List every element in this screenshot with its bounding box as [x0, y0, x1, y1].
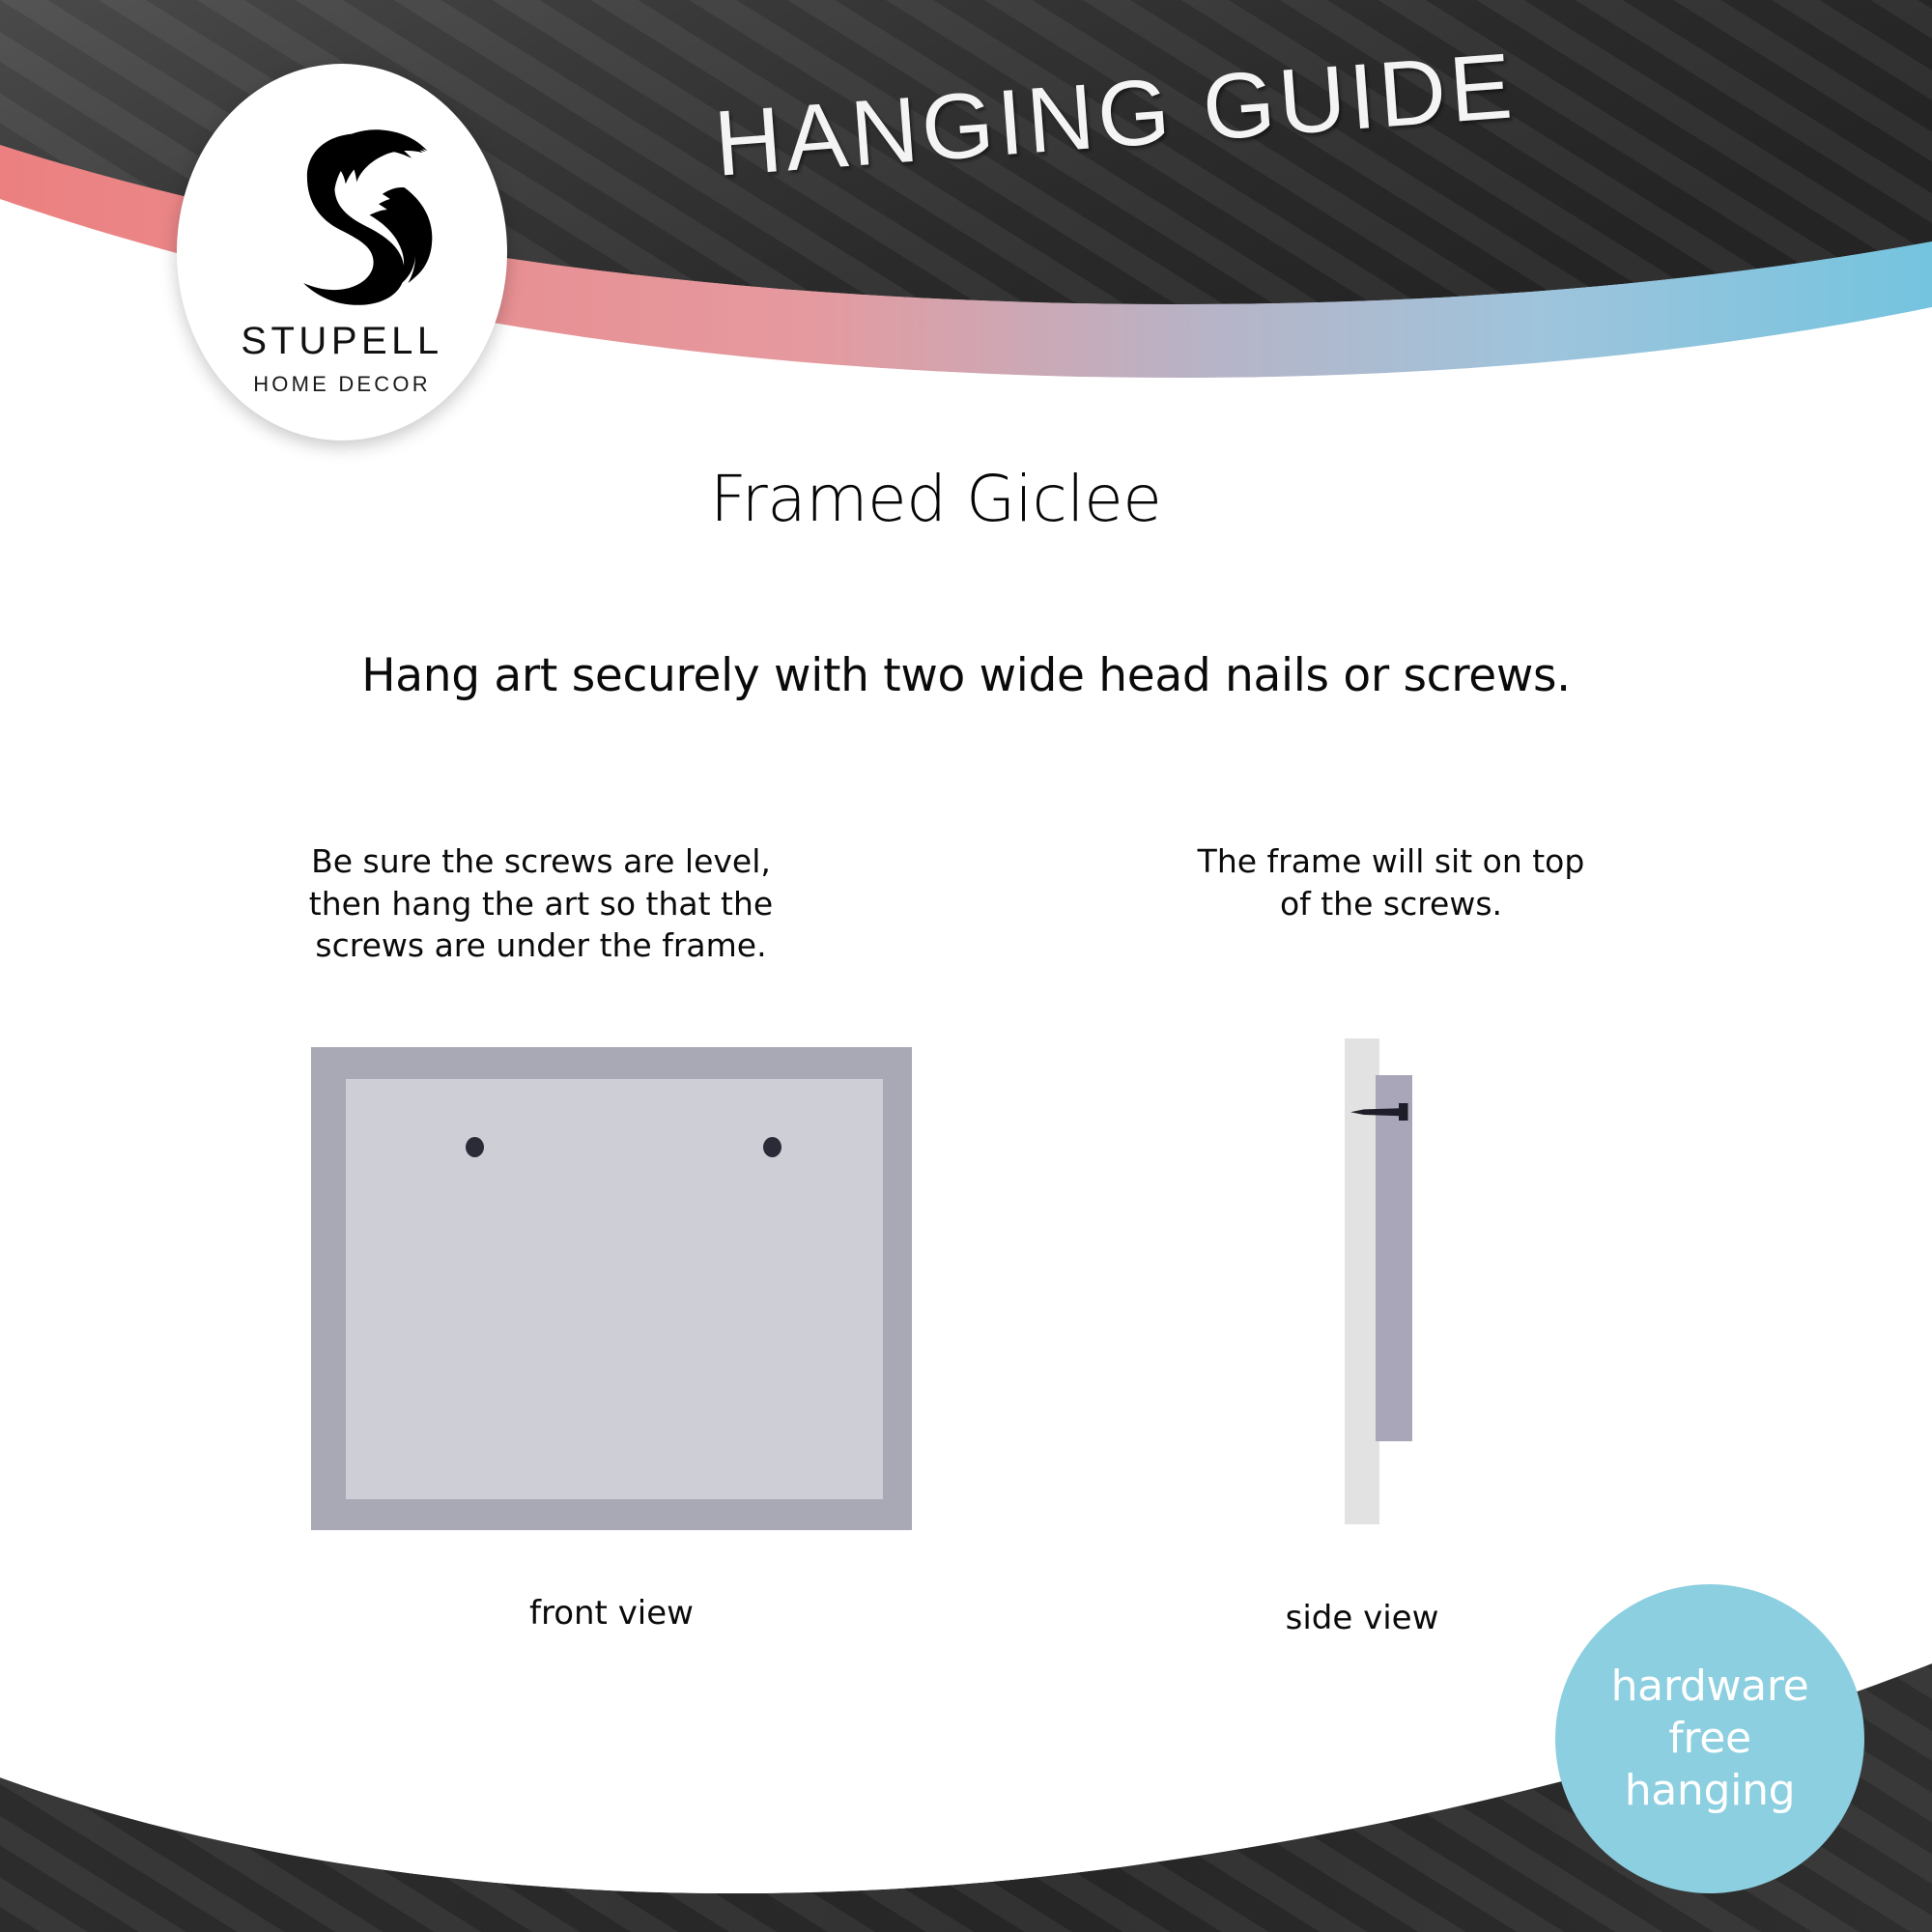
- front-view-diagram: [311, 1047, 912, 1530]
- side-view-frame-bar: [1376, 1075, 1412, 1441]
- badge-line-2: free: [1668, 1713, 1751, 1765]
- logo-subtitle: HOME DECOR: [253, 374, 431, 395]
- page-title: HANGING GUIDE: [711, 33, 1520, 198]
- main-instruction-text: Hang art securely with two wide head nai…: [0, 649, 1932, 702]
- front-view-caption-line-2: then hang the art so that the: [222, 883, 860, 925]
- screw-hole-icon-right: [763, 1137, 781, 1157]
- front-view-mat: [346, 1079, 883, 1499]
- front-view-label: front view: [322, 1594, 901, 1633]
- logo-wordmark: STUPELL: [241, 322, 442, 360]
- stupell-swoosh-icon: [250, 110, 434, 308]
- front-view-caption-line-3: screws are under the frame.: [222, 924, 860, 967]
- side-view-caption: The frame will sit on top of the screws.: [1130, 840, 1652, 924]
- side-view-caption-line-1: The frame will sit on top: [1130, 840, 1652, 883]
- hanging-guide-page: STUPELL HOME DECOR HANGING GUIDE Framed …: [0, 0, 1932, 1932]
- front-view-caption: Be sure the screws are level, then hang …: [222, 840, 860, 967]
- badge-line-1: hardware: [1611, 1661, 1809, 1713]
- side-view-caption-line-2: of the screws.: [1130, 883, 1652, 925]
- front-view-caption-line-1: Be sure the screws are level,: [222, 840, 860, 883]
- nail-icon: [1350, 1101, 1418, 1122]
- product-type-heading: Framed Giclee: [710, 462, 1161, 536]
- badge-line-3: hanging: [1625, 1765, 1796, 1817]
- side-view-label: side view: [1159, 1599, 1565, 1637]
- screw-hole-icon-left: [466, 1137, 484, 1157]
- hardware-free-hanging-badge: hardware free hanging: [1555, 1584, 1864, 1893]
- brand-logo-badge: STUPELL HOME DECOR: [177, 64, 507, 440]
